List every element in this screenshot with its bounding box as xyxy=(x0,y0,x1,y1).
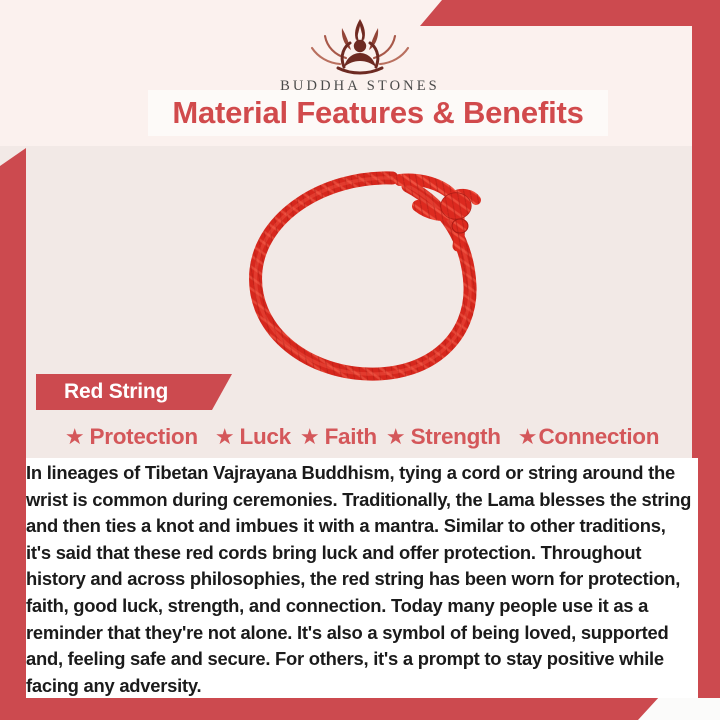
lotus-meditation-figure-icon xyxy=(294,14,426,76)
feature-item-faith: ★ Faith xyxy=(300,424,377,450)
infographic-page: BUDDHA STONES Material Features & Benefi… xyxy=(0,0,720,720)
brand-logo: BUDDHA STONES xyxy=(0,14,720,95)
description-panel: In lineages of Tibetan Vajrayana Buddhis… xyxy=(26,458,698,698)
star-icon: ★ xyxy=(518,426,538,448)
feature-label: Protection xyxy=(90,424,198,450)
feature-item-protection: ★ Protection xyxy=(65,424,198,450)
star-icon: ★ xyxy=(215,426,235,448)
product-tag: Red String xyxy=(36,374,232,410)
description-paragraph: In lineages of Tibetan Vajrayana Buddhis… xyxy=(26,460,692,699)
star-icon: ★ xyxy=(386,426,406,448)
page-title: Material Features & Benefits xyxy=(172,95,583,131)
feature-label: Connection xyxy=(538,424,659,450)
star-icon: ★ xyxy=(65,426,85,448)
feature-item-luck: ★ Luck xyxy=(215,424,291,450)
features-list: ★ Protection ★ Luck ★ Faith ★ Strength ★… xyxy=(26,420,698,454)
red-braided-string-bracelet-image xyxy=(232,160,502,388)
feature-item-strength: ★ Strength xyxy=(386,424,501,450)
title-banner: Material Features & Benefits xyxy=(148,90,608,136)
decorative-left-red-bar xyxy=(0,148,26,696)
feature-label: Faith xyxy=(325,424,377,450)
decorative-bottom-red-band xyxy=(0,696,660,720)
feature-label: Luck xyxy=(240,424,291,450)
product-tag-label: Red String xyxy=(36,380,168,404)
feature-item-connection: ★ Connection xyxy=(518,424,659,450)
feature-label: Strength xyxy=(411,424,501,450)
star-icon: ★ xyxy=(300,426,320,448)
